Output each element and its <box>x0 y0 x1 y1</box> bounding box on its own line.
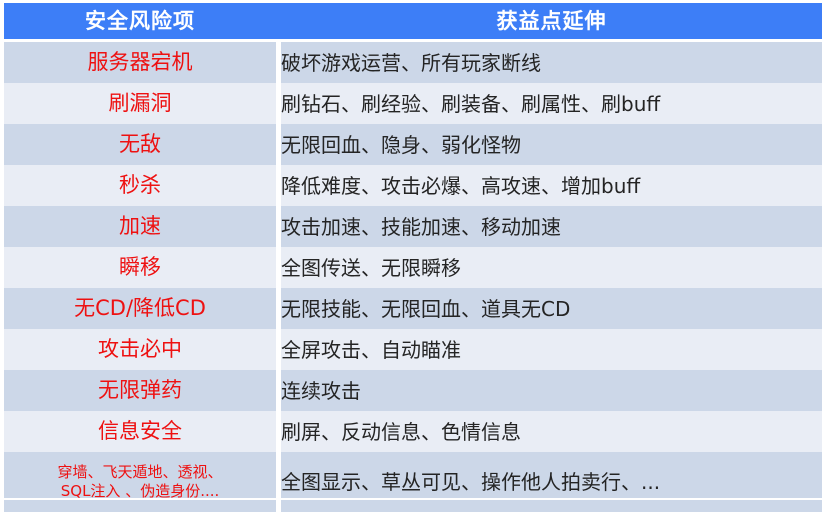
risk-cell: 服务器宕机 <box>4 42 276 83</box>
risk-table-container: 安全风险项 获益点延伸 服务器宕机破坏游戏运营、所有玩家断线刷漏洞刷钻石、刷经验… <box>0 0 825 500</box>
table-row: 瞬移全图传送、无限瞬移 <box>4 247 822 288</box>
table-header: 安全风险项 获益点延伸 <box>4 3 822 39</box>
table-body: 服务器宕机破坏游戏运营、所有玩家断线刷漏洞刷钻石、刷经验、刷装备、刷属性、刷bu… <box>4 39 822 512</box>
risk-cell-line-1: 无CD/降低CD <box>4 296 276 320</box>
risk-cell-line-1: 加速 <box>4 214 276 238</box>
risk-cell: 刷漏洞 <box>4 83 276 124</box>
risk-cell-line-1: 服务器宕机 <box>4 50 276 74</box>
risk-cell-line-1: 秒杀 <box>4 173 276 197</box>
risk-cell-line-1: 攻击必中 <box>4 337 276 361</box>
gain-cell: 降低难度、攻击必爆、高攻速、增加buff <box>281 165 822 206</box>
risk-cell-line-1: 瞬移 <box>4 255 276 279</box>
risk-cell: 无敌 <box>4 124 276 165</box>
gain-cell: 破坏游戏运营、所有玩家断线 <box>281 42 822 83</box>
risk-cell: 穿墙、飞天遁地、透视、SQL注入 、伪造身份.... <box>4 452 276 512</box>
gain-cell: 全图传送、无限瞬移 <box>281 247 822 288</box>
gain-cell: 刷屏、反动信息、色情信息 <box>281 411 822 452</box>
risk-cell-line-1: 刷漏洞 <box>4 91 276 115</box>
table-row: 无CD/降低CD无限技能、无限回血、道具无CD <box>4 288 822 329</box>
table-row: 服务器宕机破坏游戏运营、所有玩家断线 <box>4 42 822 83</box>
column-header-gain: 获益点延伸 <box>281 3 822 39</box>
gain-cell: 攻击加速、技能加速、移动加速 <box>281 206 822 247</box>
risk-cell-line-1: 无敌 <box>4 132 276 156</box>
risk-cell-line-1: 穿墙、飞天遁地、透视、 <box>4 463 276 482</box>
table-row: 无限弹药连续攻击 <box>4 370 822 411</box>
risk-cell: 攻击必中 <box>4 329 276 370</box>
gain-cell: 无限回血、隐身、弱化怪物 <box>281 124 822 165</box>
table-row: 加速攻击加速、技能加速、移动加速 <box>4 206 822 247</box>
gain-cell: 全图显示、草丛可见、操作他人拍卖行、... <box>281 452 822 512</box>
risk-cell: 加速 <box>4 206 276 247</box>
gain-cell: 无限技能、无限回血、道具无CD <box>281 288 822 329</box>
column-header-risk: 安全风险项 <box>4 3 276 39</box>
security-risk-table: 安全风险项 获益点延伸 服务器宕机破坏游戏运营、所有玩家断线刷漏洞刷钻石、刷经验… <box>4 3 822 512</box>
gain-cell: 全屏攻击、自动瞄准 <box>281 329 822 370</box>
risk-cell: 无CD/降低CD <box>4 288 276 329</box>
table-row: 穿墙、飞天遁地、透视、SQL注入 、伪造身份....全图显示、草丛可见、操作他人… <box>4 452 822 512</box>
gain-cell: 刷钻石、刷经验、刷装备、刷属性、刷buff <box>281 83 822 124</box>
risk-cell: 秒杀 <box>4 165 276 206</box>
risk-cell: 信息安全 <box>4 411 276 452</box>
risk-cell: 瞬移 <box>4 247 276 288</box>
table-header-row: 安全风险项 获益点延伸 <box>4 3 822 39</box>
table-row: 攻击必中全屏攻击、自动瞄准 <box>4 329 822 370</box>
table-row: 秒杀降低难度、攻击必爆、高攻速、增加buff <box>4 165 822 206</box>
table-row: 无敌无限回血、隐身、弱化怪物 <box>4 124 822 165</box>
risk-cell: 无限弹药 <box>4 370 276 411</box>
table-row: 信息安全刷屏、反动信息、色情信息 <box>4 411 822 452</box>
risk-cell-line-1: 无限弹药 <box>4 378 276 402</box>
table-row: 刷漏洞刷钻石、刷经验、刷装备、刷属性、刷buff <box>4 83 822 124</box>
risk-cell-line-1: 信息安全 <box>4 419 276 443</box>
gain-cell: 连续攻击 <box>281 370 822 411</box>
